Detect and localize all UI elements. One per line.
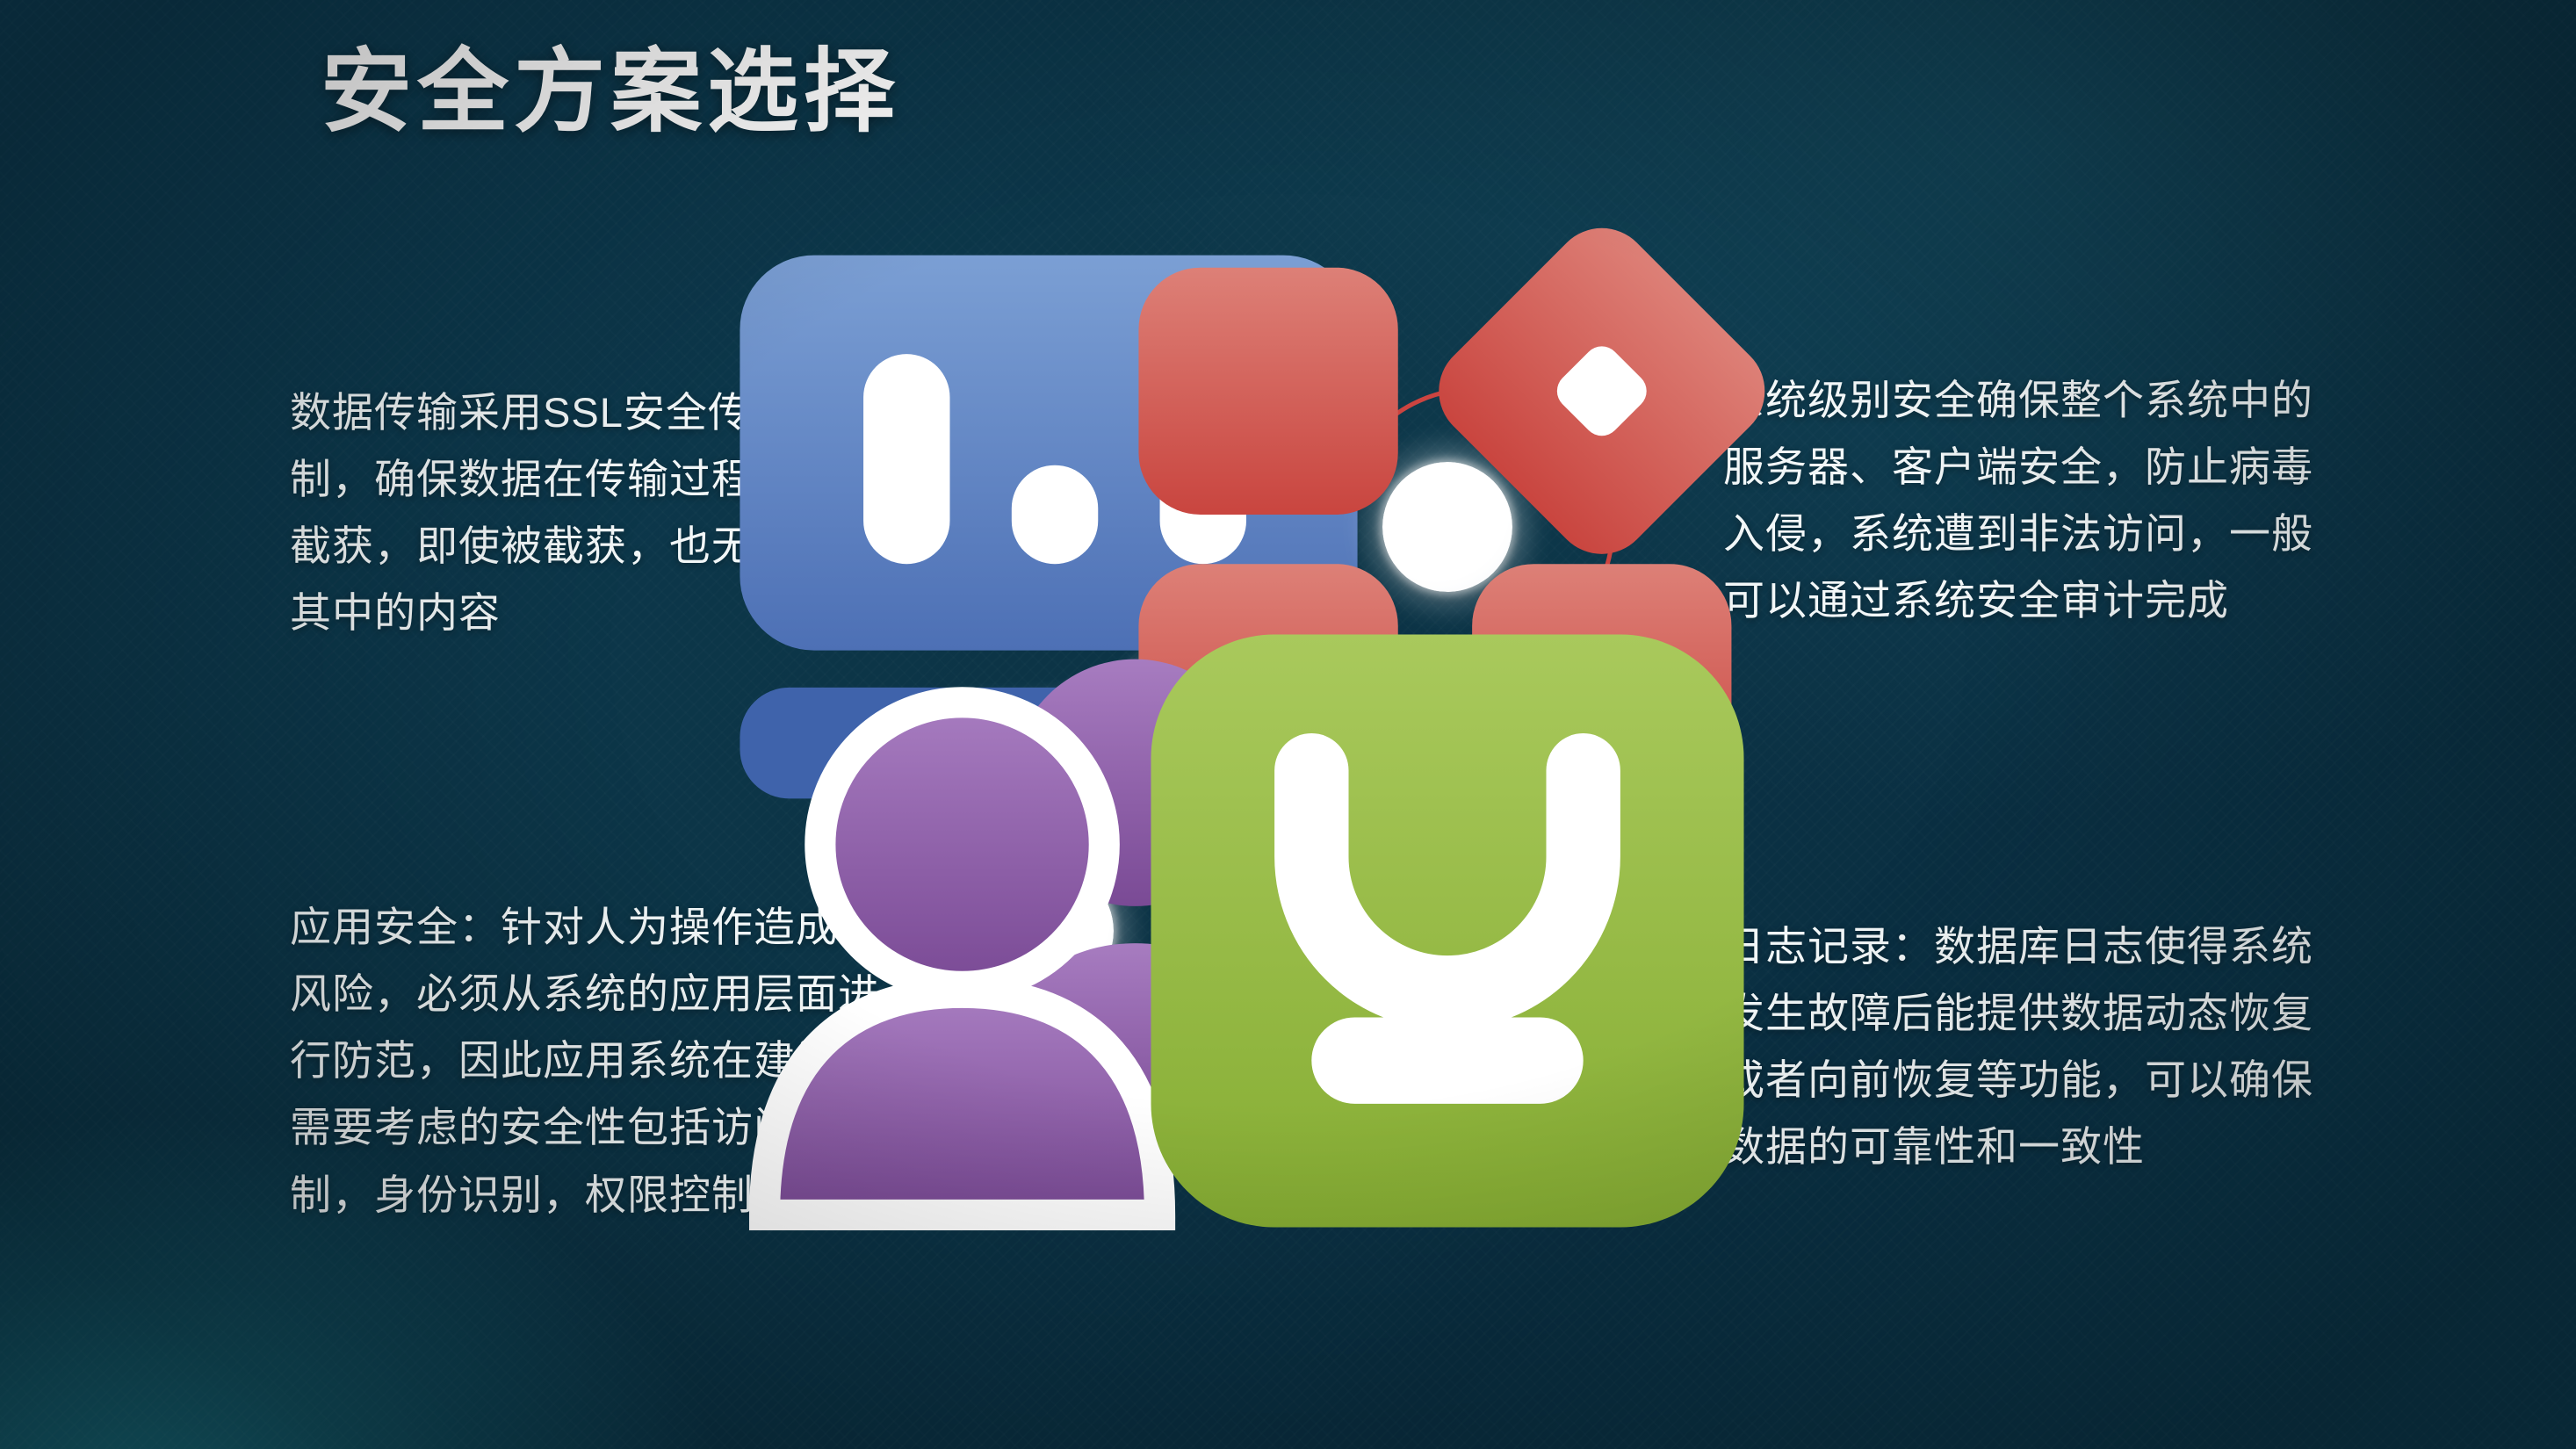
security-cycle-diagram [896, 369, 1686, 1159]
node-bottom-right[interactable] [1382, 866, 1512, 996]
page-title: 安全方案选择 [321, 42, 900, 142]
slide-canvas: 安全方案选择 数据传输采用SSL安全传输机制，确保数据在传输过程中不被截获，即使… [0, 0, 2576, 1449]
shopping-bag-icon [1052, 536, 1843, 1326]
